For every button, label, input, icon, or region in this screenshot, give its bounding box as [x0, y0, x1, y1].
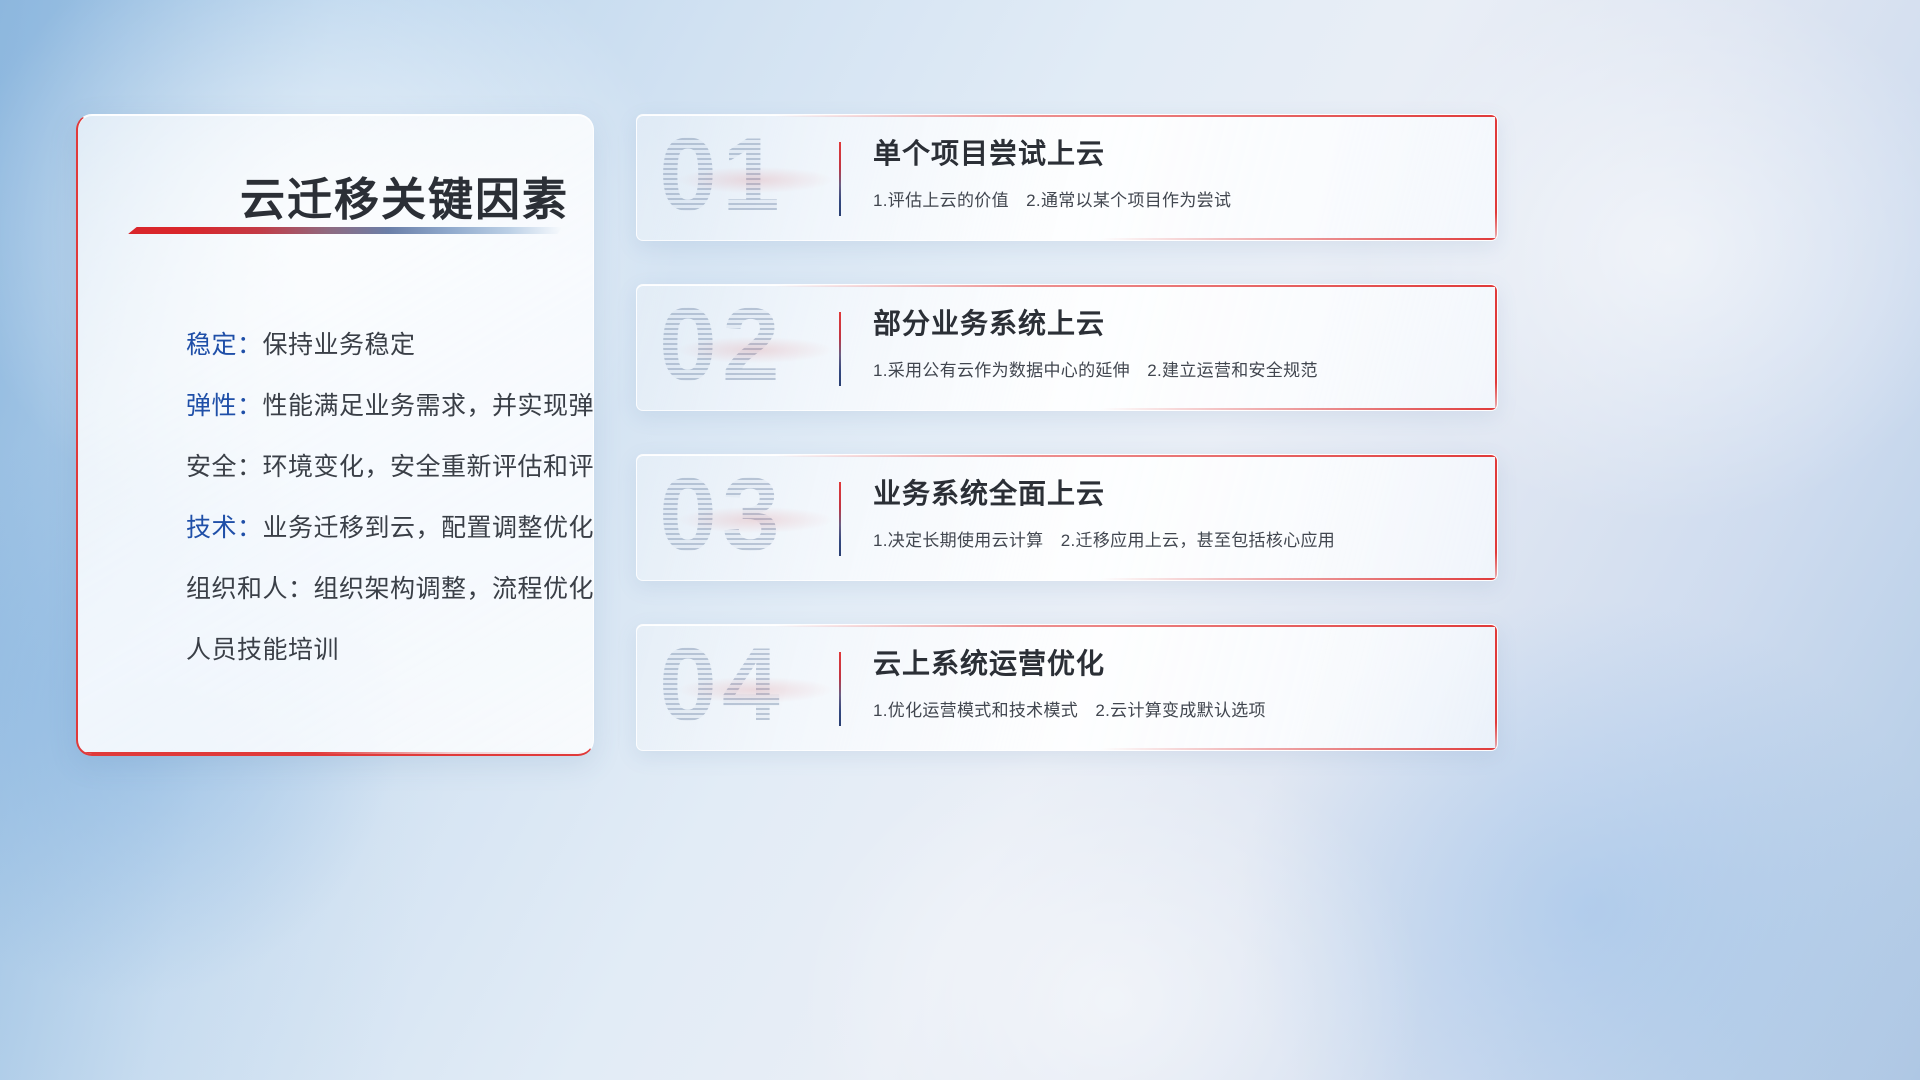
- key-factors-panel: 云迁移关键因素 稳定：保持业务稳定弹性：性能满足业务需求，并实现弹性安全：环境变…: [76, 114, 594, 756]
- card-divider-bar: [839, 312, 841, 386]
- key-factor-label: 安全：: [186, 453, 263, 481]
- card-title: 云上系统运营优化: [873, 642, 1469, 682]
- card-description: 1.采用公有云作为数据中心的延伸 2.建立运营和安全规范: [873, 356, 1469, 381]
- key-factor-item: 安全：环境变化，安全重新评估和评审: [186, 437, 567, 498]
- card-divider-bar: [839, 652, 841, 726]
- stage-card[interactable]: 0404云上系统运营优化1.优化运营模式和技术模式 2.云计算变成默认选项: [636, 624, 1498, 751]
- stage-card[interactable]: 0303业务系统全面上云1.决定长期使用云计算 2.迁移应用上云，甚至包括核心应…: [636, 454, 1498, 581]
- key-factor-item: 弹性：性能满足业务需求，并实现弹性: [186, 376, 567, 437]
- key-factor-item: 技术：业务迁移到云，配置调整优化: [186, 498, 567, 559]
- card-description: 1.决定长期使用云计算 2.迁移应用上云，甚至包括核心应用: [873, 526, 1469, 551]
- key-factor-value: 环境变化，安全重新评估和评审: [263, 453, 594, 481]
- key-factor-value: 保持业务稳定: [263, 331, 416, 359]
- stage-number-tint: [655, 673, 855, 707]
- stage-card[interactable]: 0202部分业务系统上云1.采用公有云作为数据中心的延伸 2.建立运营和安全规范: [636, 284, 1498, 411]
- key-factor-item: 稳定：保持业务稳定: [186, 315, 567, 376]
- card-accent-right: [1495, 455, 1497, 580]
- card-description: 1.评估上云的价值 2.通常以某个项目作为尝试: [873, 186, 1469, 211]
- card-accent-bottom: [1101, 408, 1497, 410]
- card-accent-bottom: [1101, 748, 1497, 750]
- card-description: 1.优化运营模式和技术模式 2.云计算变成默认选项: [873, 696, 1469, 721]
- card-accent-top: [775, 285, 1497, 287]
- stage-cards-list: 0101单个项目尝试上云1.评估上云的价值 2.通常以某个项目作为尝试0202部…: [636, 114, 1498, 794]
- key-factor-label: 技术：: [186, 514, 263, 542]
- key-factor-value: 性能满足业务需求，并实现弹性: [263, 392, 594, 420]
- key-factor-label: 稳定：: [186, 331, 263, 359]
- key-factor-value: 人员技能培训: [186, 636, 339, 664]
- card-accent-top: [775, 115, 1497, 117]
- stage-number-tint: [655, 333, 855, 367]
- stage-number-tint: [655, 503, 855, 537]
- page-title: 云迁移关键因素: [240, 163, 569, 228]
- card-body: 单个项目尝试上云1.评估上云的价值 2.通常以某个项目作为尝试: [873, 132, 1469, 211]
- stage-card[interactable]: 0101单个项目尝试上云1.评估上云的价值 2.通常以某个项目作为尝试: [636, 114, 1498, 241]
- stage-number-tint: [655, 163, 855, 197]
- card-body: 部分业务系统上云1.采用公有云作为数据中心的延伸 2.建立运营和安全规范: [873, 302, 1469, 381]
- key-factor-value: 业务迁移到云，配置调整优化: [263, 514, 594, 542]
- card-accent-top: [775, 625, 1497, 627]
- card-divider-bar: [839, 142, 841, 216]
- card-accent-bottom: [1101, 578, 1497, 580]
- title-underline-gradient: [128, 227, 562, 234]
- card-accent-bottom: [1101, 238, 1497, 240]
- card-divider-bar: [839, 482, 841, 556]
- card-title: 单个项目尝试上云: [873, 132, 1469, 172]
- key-factor-value: 组织架构调整，流程优化，: [314, 575, 594, 603]
- card-body: 云上系统运营优化1.优化运营模式和技术模式 2.云计算变成默认选项: [873, 642, 1469, 721]
- card-title: 业务系统全面上云: [873, 472, 1469, 512]
- key-factor-item: 组织和人：组织架构调整，流程优化，: [186, 559, 567, 620]
- card-body: 业务系统全面上云1.决定长期使用云计算 2.迁移应用上云，甚至包括核心应用: [873, 472, 1469, 551]
- key-factor-item: 人员技能培训: [186, 620, 567, 681]
- card-accent-right: [1495, 625, 1497, 750]
- card-accent-right: [1495, 115, 1497, 240]
- card-accent-right: [1495, 285, 1497, 410]
- key-factor-label: 弹性：: [186, 392, 263, 420]
- card-title: 部分业务系统上云: [873, 302, 1469, 342]
- key-factors-list: 稳定：保持业务稳定弹性：性能满足业务需求，并实现弹性安全：环境变化，安全重新评估…: [186, 315, 567, 681]
- card-accent-top: [775, 455, 1497, 457]
- key-factor-label: 组织和人：: [186, 575, 314, 603]
